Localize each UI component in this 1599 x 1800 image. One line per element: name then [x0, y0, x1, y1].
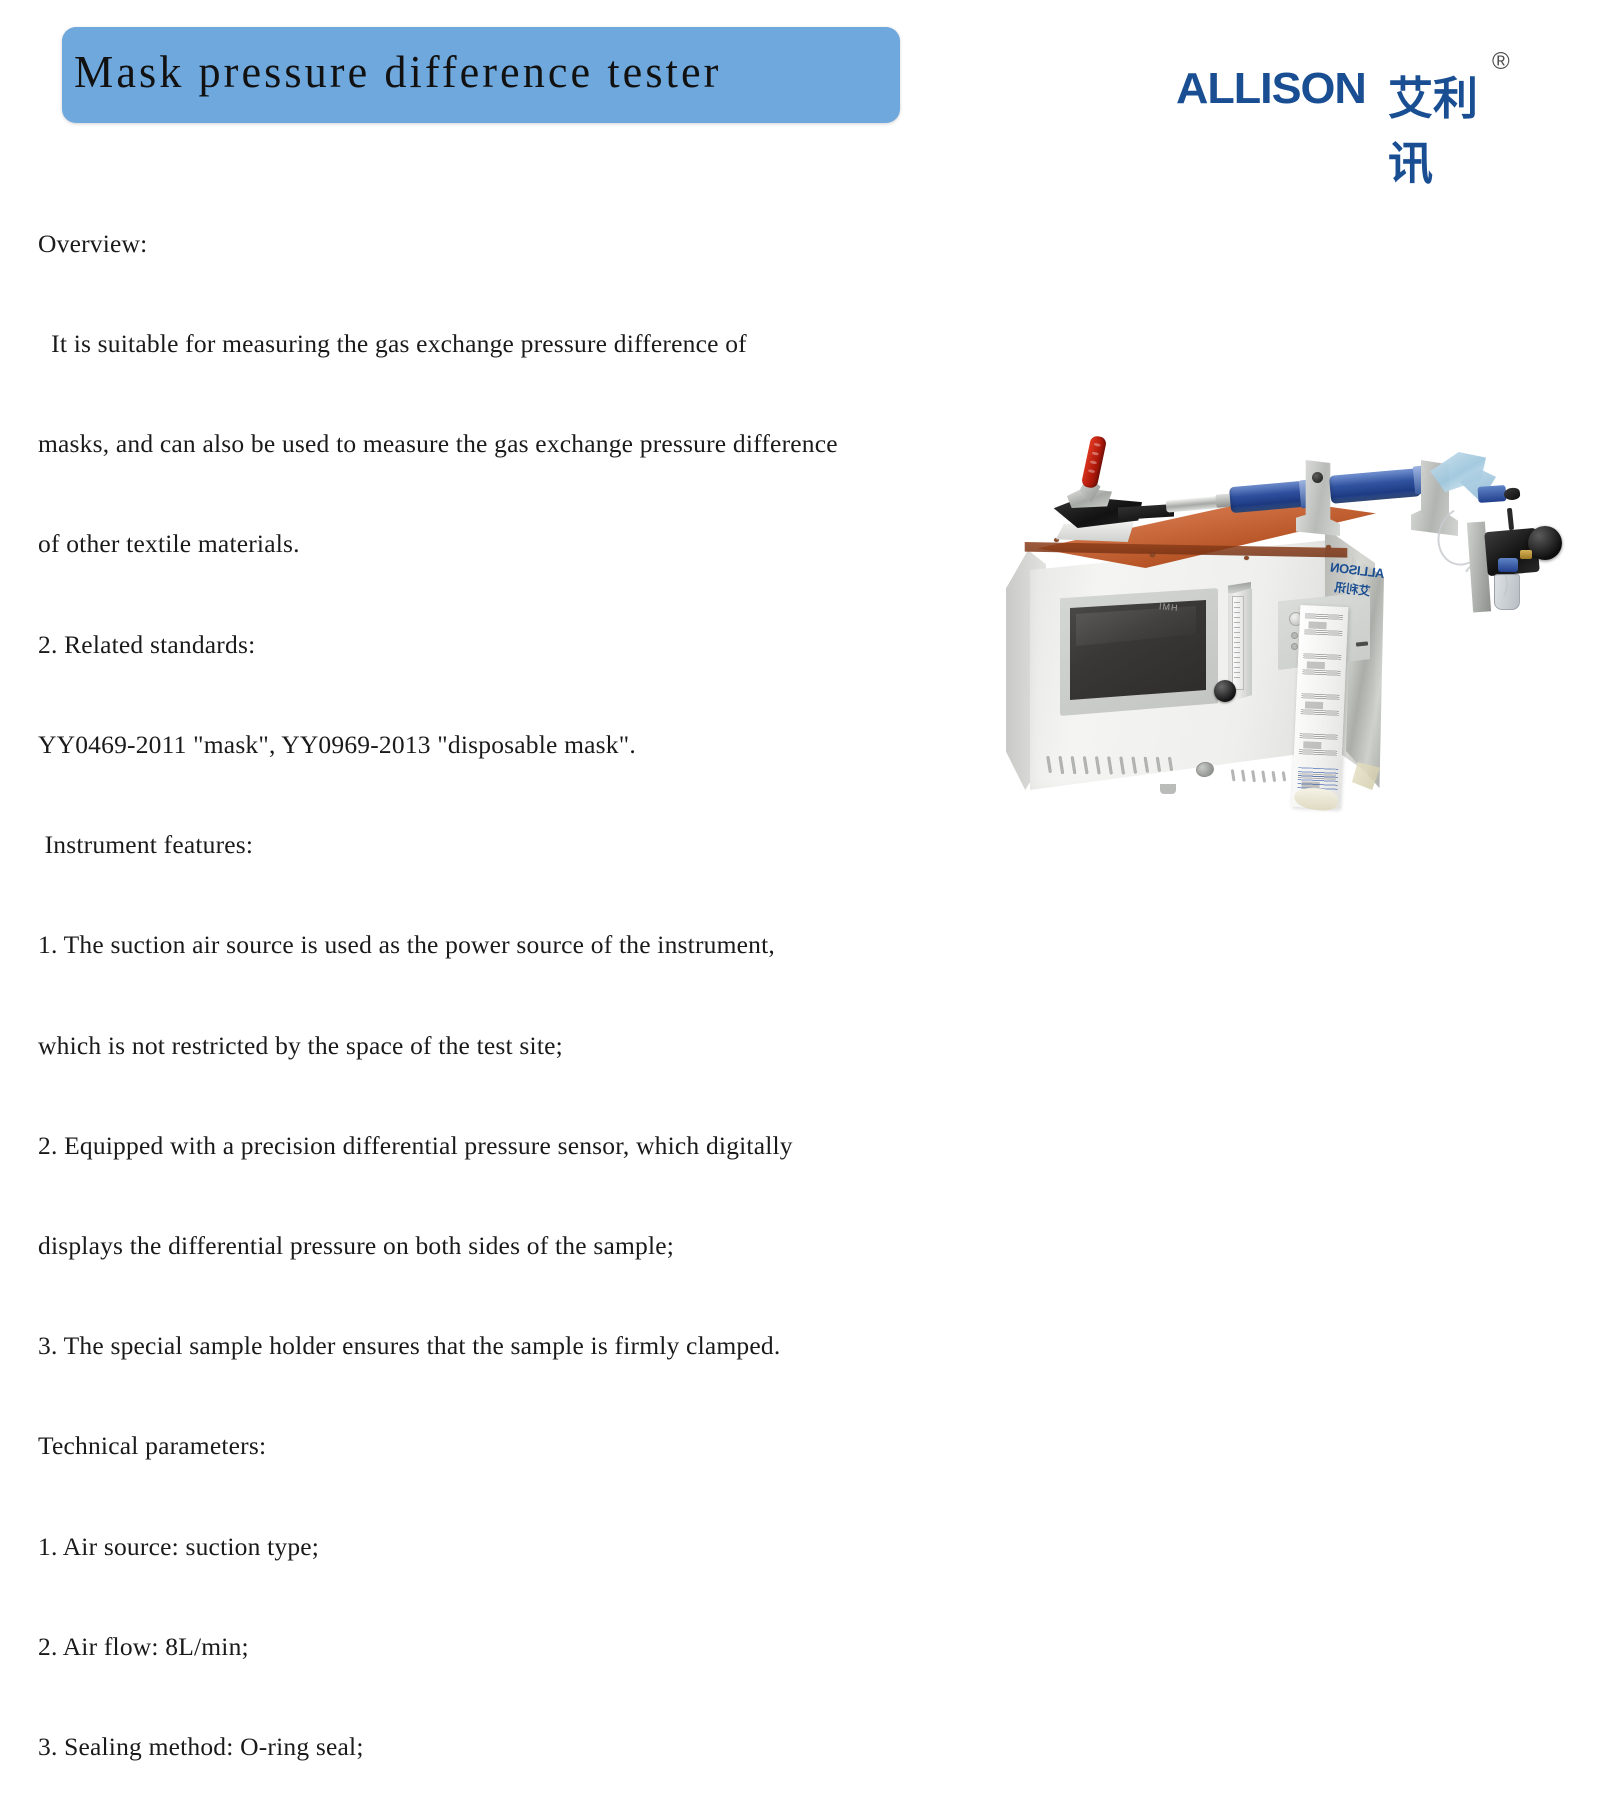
printer-status-led — [1291, 643, 1298, 650]
regulator-brass-fitting — [1520, 550, 1532, 559]
pressure-regulator-knob[interactable] — [1528, 526, 1562, 560]
body-line-6: Instrument features: — [38, 828, 1128, 861]
body-copy: Overview: It is suitable for measuring t… — [38, 160, 1128, 1800]
body-line-5: YY0469-2011 "mask", YY0969-2013 "disposa… — [38, 728, 1128, 761]
brand-logo-latin: ALLISON — [1176, 64, 1366, 114]
body-line-14: 2. Air flow: 8L/min; — [38, 1630, 1128, 1663]
body-line-0: Overview: — [38, 227, 1128, 260]
machine-brand-logo: ALLISON 艾利讯 — [1298, 555, 1385, 595]
body-line-8: which is not restricted by the space of … — [38, 1029, 1128, 1062]
body-line-15: 3. Sealing method: O-ring seal; — [38, 1730, 1128, 1763]
screen-model-label: HMI — [1158, 601, 1178, 613]
regulator-stem — [1507, 508, 1514, 530]
body-line-7: 1. The suction air source is used as the… — [38, 928, 1128, 961]
machine-photo: HMI ALL — [1000, 410, 1599, 880]
body-line-2: masks, and can also be used to measure t… — [38, 427, 1128, 460]
filter-bowl — [1494, 574, 1520, 610]
plate-screw-icon — [1326, 545, 1331, 549]
machine-foot — [1160, 784, 1176, 794]
body-line-11: 3. The special sample holder ensures tha… — [38, 1329, 1128, 1362]
slide-page: Mask pressure difference tester ALLISON … — [0, 0, 1599, 900]
red-clamp-handle[interactable] — [1081, 435, 1107, 489]
printer-status-led — [1291, 632, 1298, 639]
flowmeter-scale — [1232, 598, 1242, 686]
body-line-4: 2. Related standards: — [38, 628, 1128, 661]
plate-screw-icon — [1150, 553, 1155, 557]
support-bolt-icon — [1312, 472, 1323, 483]
body-line-9: 2. Equipped with a precision differentia… — [38, 1129, 1128, 1162]
body-line-3: of other textile materials. — [38, 527, 1128, 560]
pneumatic-cylinder-right — [1329, 468, 1421, 504]
body-line-10: displays the differential pressure on bo… — [38, 1229, 1128, 1262]
body-line-12: Technical parameters: — [38, 1429, 1128, 1462]
page-title: Mask pressure difference tester — [74, 45, 861, 98]
flowmeter-knob[interactable] — [1214, 680, 1236, 702]
brand-logo: ALLISON 艾利讯 ® — [1176, 58, 1506, 120]
body-line-13: 1. Air source: suction type; — [38, 1530, 1128, 1563]
regulator-air-fitting — [1498, 558, 1518, 572]
air-fitting — [1477, 485, 1506, 503]
air-fitting-cap — [1503, 487, 1520, 501]
plate-screw-icon — [1244, 556, 1249, 560]
body-line-1: It is suitable for measuring the gas exc… — [38, 327, 1128, 360]
registered-trademark-icon: ® — [1492, 48, 1510, 76]
brand-logo-cjk: 艾利讯 — [1388, 62, 1506, 192]
